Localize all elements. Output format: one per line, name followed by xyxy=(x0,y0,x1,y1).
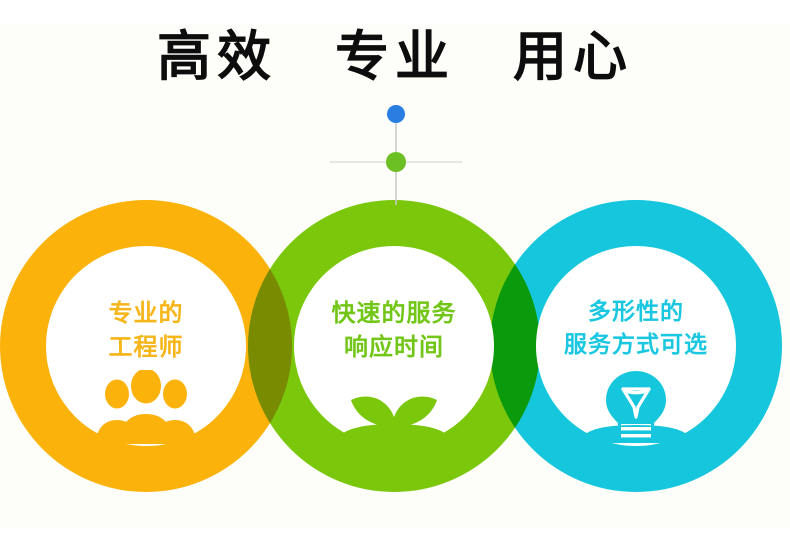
feature-card-flexible[interactable]: 多形性的 服务方式可选 xyxy=(521,296,751,445)
title-word-1: 高效 xyxy=(157,30,277,84)
poster-canvas: 高效 专业 用心 专业的 工程师 xyxy=(0,0,790,557)
page-title: 高效 专业 用心 xyxy=(0,30,790,84)
feature-expert-line-1: 专业的 xyxy=(109,296,184,330)
lightbulb-icon xyxy=(581,367,691,445)
feature-card-response[interactable]: 快速的服务 响应时间 xyxy=(279,296,509,448)
people-group-icon xyxy=(90,370,202,448)
feature-flexible-line-2: 服务方式可选 xyxy=(564,329,708,362)
title-word-2: 专业 xyxy=(335,30,455,84)
sprout-leaf-icon xyxy=(335,370,453,448)
title-word-3: 用心 xyxy=(513,30,633,84)
feature-response-line-1: 快速的服务 xyxy=(332,296,457,330)
feature-expert-line-2: 工程师 xyxy=(109,330,184,364)
feature-flexible-line-1: 多形性的 xyxy=(588,296,684,329)
feature-card-expert[interactable]: 专业的 工程师 xyxy=(31,296,261,448)
feature-response-line-2: 响应时间 xyxy=(344,330,444,364)
